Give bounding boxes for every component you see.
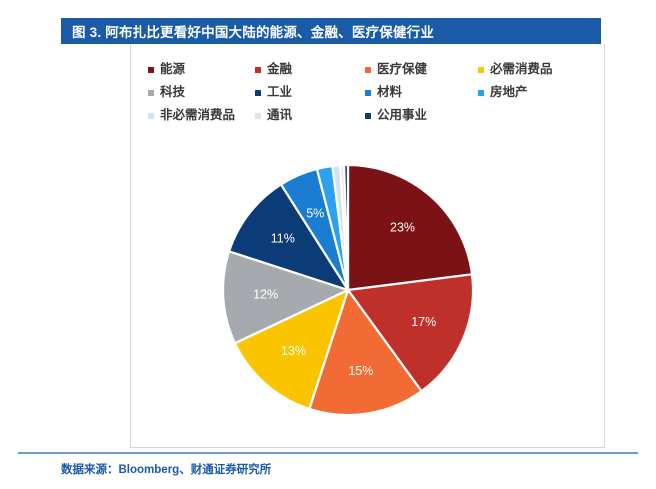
- pie-slice-label: 13%: [281, 344, 306, 358]
- legend-item-energy[interactable]: 能源: [148, 63, 255, 76]
- legend-row: 科技 工业 材料 房地产: [148, 81, 568, 104]
- figure-title: 图 3. 阿布扎比更看好中国大陆的能源、金融、医疗保健行业: [72, 21, 434, 41]
- legend-item-healthcare[interactable]: 医疗保健: [365, 63, 478, 76]
- pie-chart-svg: 23%17%15%13%12%11%5%: [222, 164, 474, 416]
- legend-label: 医疗保健: [377, 63, 427, 76]
- legend-item-materials[interactable]: 材料: [365, 86, 478, 99]
- legend-item-utilities[interactable]: 公用事业: [365, 109, 478, 122]
- legend-swatch-icon: [365, 113, 371, 119]
- pie-slice-label: 23%: [390, 220, 415, 234]
- legend-swatch-icon: [255, 90, 261, 96]
- legend-item-consumer-staples[interactable]: 必需消费品: [478, 63, 553, 76]
- legend-label: 材料: [377, 86, 402, 99]
- legend-swatch-icon: [365, 90, 371, 96]
- legend-item-financials[interactable]: 金融: [255, 63, 365, 76]
- pie-slice-label: 11%: [271, 232, 295, 246]
- legend-label: 工业: [267, 86, 292, 99]
- legend-row: 能源 金融 医疗保健 必需消费品: [148, 58, 568, 81]
- pie-slice-label: 12%: [253, 287, 278, 301]
- legend-swatch-icon: [148, 90, 154, 96]
- legend-swatch-icon: [255, 67, 261, 73]
- legend-label: 金融: [267, 63, 292, 76]
- legend-swatch-icon: [478, 90, 484, 96]
- legend-label: 能源: [160, 63, 185, 76]
- pie-chart: 23%17%15%13%12%11%5%: [222, 164, 474, 416]
- pie-slice-label: 5%: [306, 207, 324, 221]
- legend-swatch-icon: [478, 67, 484, 73]
- legend-label: 通讯: [267, 109, 292, 122]
- legend-swatch-icon: [255, 113, 261, 119]
- chart-legend: 能源 金融 医疗保健 必需消费品 科技 工业: [148, 58, 568, 127]
- pie-slice-label: 17%: [411, 315, 436, 329]
- legend-item-industrials[interactable]: 工业: [255, 86, 365, 99]
- legend-label: 科技: [160, 86, 185, 99]
- legend-row: 非必需消费品 通讯 公用事业: [148, 104, 568, 127]
- footer-divider: [18, 452, 638, 454]
- legend-label: 非必需消费品: [160, 109, 235, 122]
- legend-swatch-icon: [365, 67, 371, 73]
- legend-label: 公用事业: [377, 109, 427, 122]
- legend-swatch-icon: [148, 67, 154, 73]
- pie-slice-label: 15%: [348, 364, 373, 378]
- legend-label: 房地产: [490, 86, 528, 99]
- legend-item-technology[interactable]: 科技: [148, 86, 255, 99]
- legend-swatch-icon: [148, 113, 154, 119]
- legend-item-telecom[interactable]: 通讯: [255, 109, 365, 122]
- legend-item-real-estate[interactable]: 房地产: [478, 86, 528, 99]
- figure-container: 图 3. 阿布扎比更看好中国大陆的能源、金融、医疗保健行业 能源 金融 医疗保健…: [0, 0, 656, 489]
- source-note: 数据来源：Bloomberg、财通证券研究所: [61, 461, 271, 477]
- legend-label: 必需消费品: [490, 63, 553, 76]
- legend-item-consumer-discretionary[interactable]: 非必需消费品: [148, 109, 255, 122]
- figure-title-bar: 图 3. 阿布扎比更看好中国大陆的能源、金融、医疗保健行业: [61, 18, 601, 44]
